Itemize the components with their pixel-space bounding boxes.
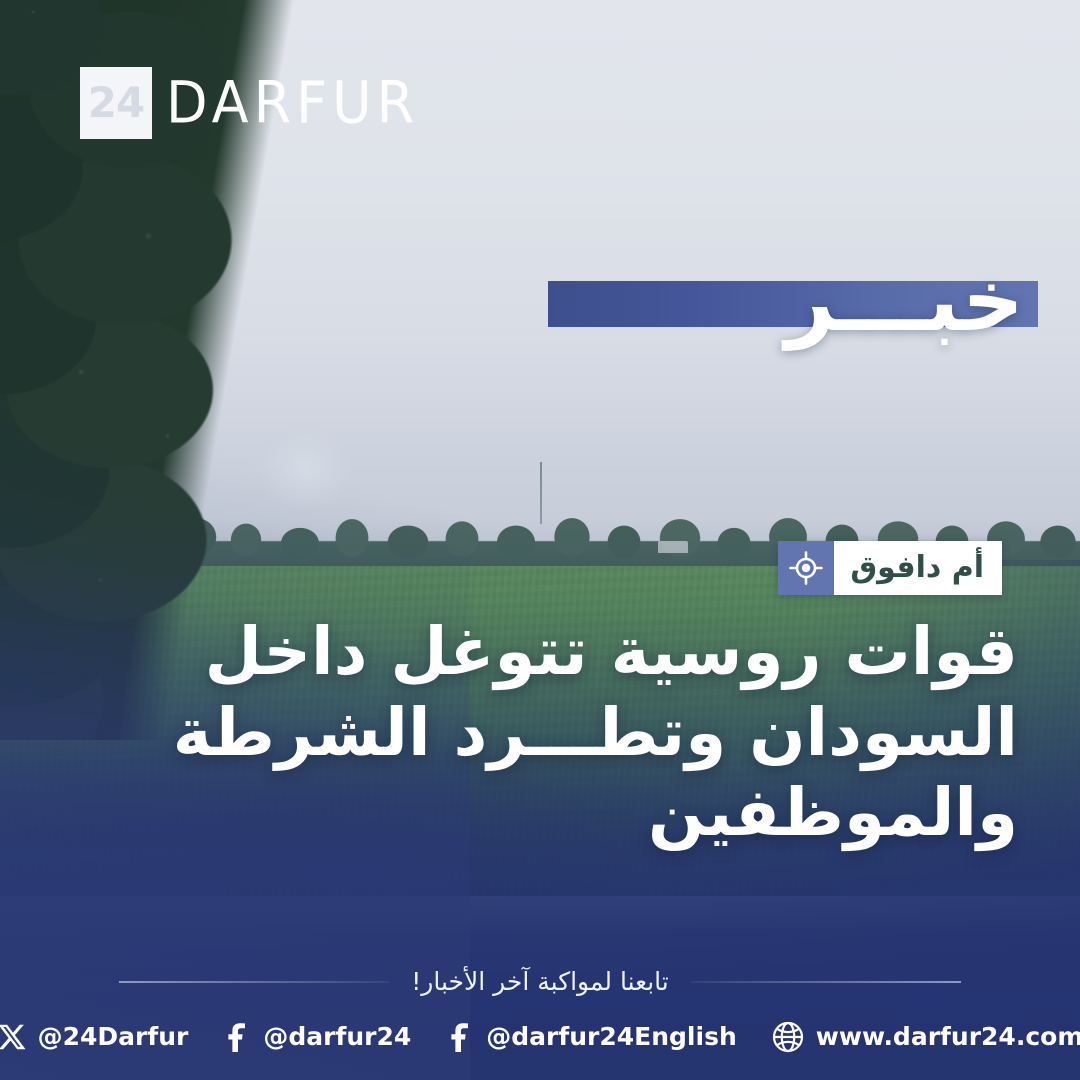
social-item-website[interactable]: www.darfur24.com [771, 1020, 1080, 1054]
social-item-x[interactable]: @24Darfur [0, 1022, 188, 1052]
kicker-banner: خبـــر [548, 281, 1038, 327]
social-item-facebook-en[interactable]: @darfur24English [445, 1022, 736, 1052]
social-handle: @darfur24English [486, 1022, 736, 1052]
facebook-icon [445, 1022, 475, 1052]
logo-number-badge: 24 [80, 67, 152, 139]
headline-line-1: قوات روسية تتوغل داخل [218, 612, 1018, 693]
kicker-label: خبـــر [785, 247, 1024, 355]
logo-number: 24 [88, 82, 144, 124]
crosshair-target-icon [778, 541, 834, 595]
location-name: أم دافوق [834, 541, 1002, 595]
x-twitter-icon [0, 1022, 27, 1052]
logo-wordmark: DARFUR [166, 71, 419, 136]
news-card: DARFUR 24 خبـــر أم دافوق قوات روسية تتو… [0, 0, 1080, 1080]
headline: قوات روسية تتوغل داخل السودان وتطـــرد ا… [218, 612, 1018, 854]
social-item-facebook-ar[interactable]: @darfur24 [222, 1022, 411, 1052]
darfur24-logo[interactable]: DARFUR 24 [80, 72, 419, 134]
social-handle: www.darfur24.com [816, 1022, 1080, 1052]
social-handle: @darfur24 [263, 1022, 411, 1052]
follow-text: تابعنا لمواكبة آخر الأخبار! [411, 967, 668, 997]
globe-icon [771, 1020, 805, 1054]
divider-left [691, 981, 961, 983]
location-badge: أم دافوق [778, 541, 1002, 595]
divider-right [119, 981, 389, 983]
headline-line-2: السودان وتطـــرد الشرطة [218, 693, 1018, 774]
follow-strip: تابعنا لمواكبة آخر الأخبار! [0, 962, 1080, 1002]
social-row: @24Darfur @darfur24 @darfur24English [0, 1012, 1080, 1062]
social-handle: @24Darfur [38, 1022, 189, 1052]
headline-line-3: والموظفين [218, 773, 1018, 854]
facebook-icon [222, 1022, 252, 1052]
